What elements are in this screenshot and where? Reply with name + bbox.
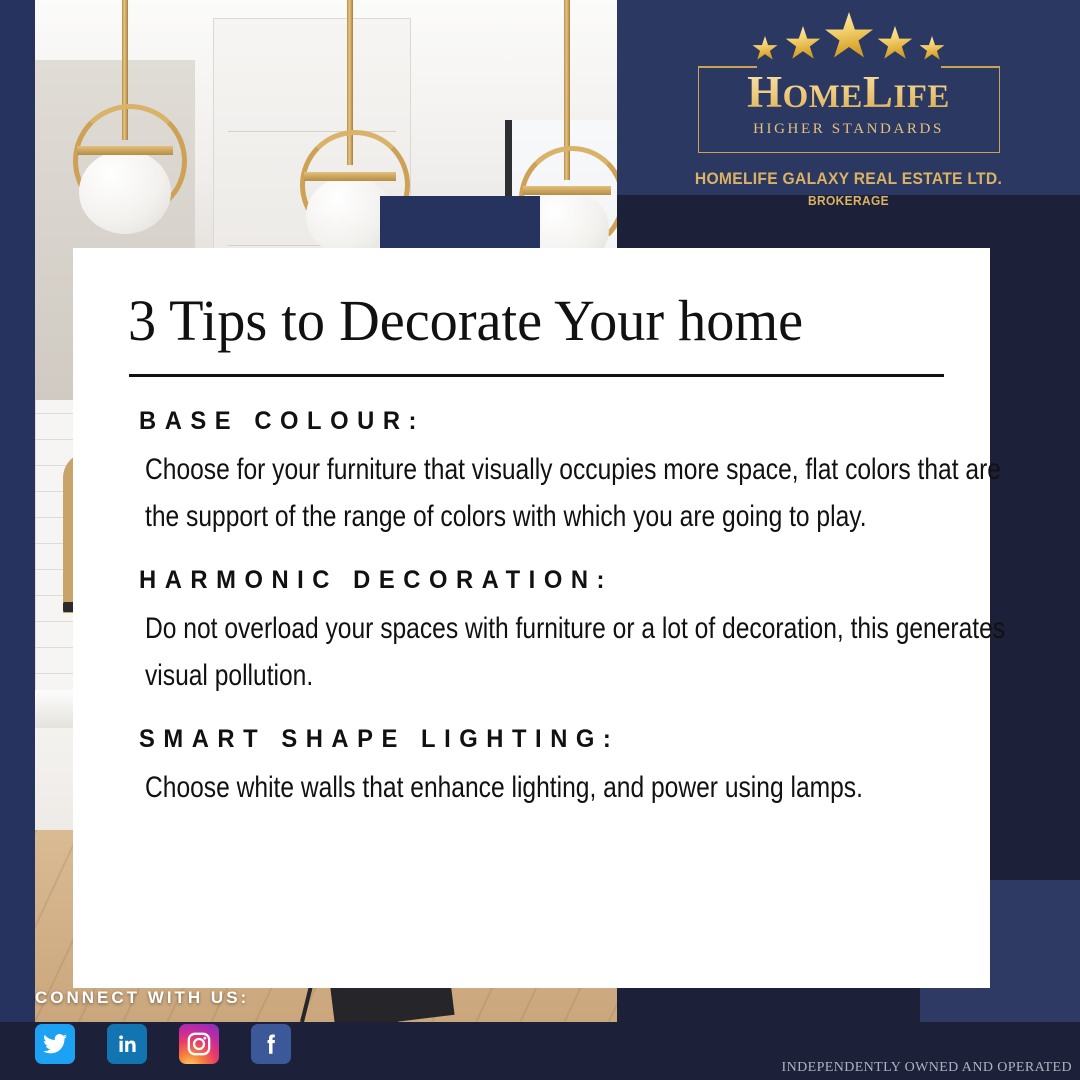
content-card: 3 Tips to Decorate Your home BASE COLOUR… — [73, 248, 990, 988]
star-icon — [752, 36, 778, 62]
tip-heading: HARMONIC DECORATION: — [139, 566, 947, 595]
star-icon — [919, 36, 945, 62]
star-icon — [877, 26, 913, 62]
linkedin-icon[interactable] — [107, 1024, 147, 1064]
tip-body: Choose white walls that enhance lighting… — [145, 764, 1031, 811]
title-divider — [129, 374, 944, 377]
brokerage-label: BROKERAGE — [636, 193, 1062, 208]
star-icon — [824, 12, 874, 62]
tip-body: Choose for your furniture that visually … — [145, 446, 1031, 540]
tip-section-2: HARMONIC DECORATION: Do not overload you… — [73, 566, 990, 699]
wordmark-l: L — [863, 67, 894, 117]
social-media-poster: HOMELIFE HIGHER STANDARDS HOMELIFE GALAX… — [0, 0, 1080, 1080]
social-links — [35, 1024, 291, 1064]
five-stars-graphic — [617, 16, 1080, 62]
logo-bracket-frame: HOMELIFE HIGHER STANDARDS — [698, 66, 1000, 153]
accent-rectangle-top — [380, 196, 540, 252]
tip-body: Do not overload your spaces with furnitu… — [145, 605, 1031, 699]
facebook-icon[interactable] — [251, 1024, 291, 1064]
tip-heading: BASE COLOUR: — [139, 407, 947, 436]
star-icon — [785, 26, 821, 62]
left-navy-edge — [0, 0, 35, 1080]
logo-tagline: HIGHER STANDARDS — [699, 121, 999, 138]
connect-with-us-label: CONNECT WITH US: — [35, 988, 249, 1008]
wordmark-h: H — [747, 67, 783, 117]
tip-heading: SMART SHAPE LIGHTING: — [139, 725, 947, 754]
company-name: HOMELIFE GALAXY REAL ESTATE LTD. — [636, 169, 1062, 189]
wordmark-ome: OME — [783, 79, 863, 115]
page-title: 3 Tips to Decorate Your home — [128, 290, 964, 352]
homelife-logo: HOMELIFE HIGHER STANDARDS HOMELIFE GALAX… — [617, 16, 1080, 208]
wordmark-ife: IFE — [893, 79, 950, 115]
instagram-icon[interactable] — [179, 1024, 219, 1064]
logo-wordmark: HOMELIFE — [699, 66, 999, 123]
independently-owned-disclaimer: INDEPENDENTLY OWNED AND OPERATED — [782, 1060, 1072, 1076]
twitter-icon[interactable] — [35, 1024, 75, 1064]
tip-section-1: BASE COLOUR: Choose for your furniture t… — [73, 407, 990, 540]
tip-section-3: SMART SHAPE LIGHTING: Choose white walls… — [73, 725, 990, 811]
